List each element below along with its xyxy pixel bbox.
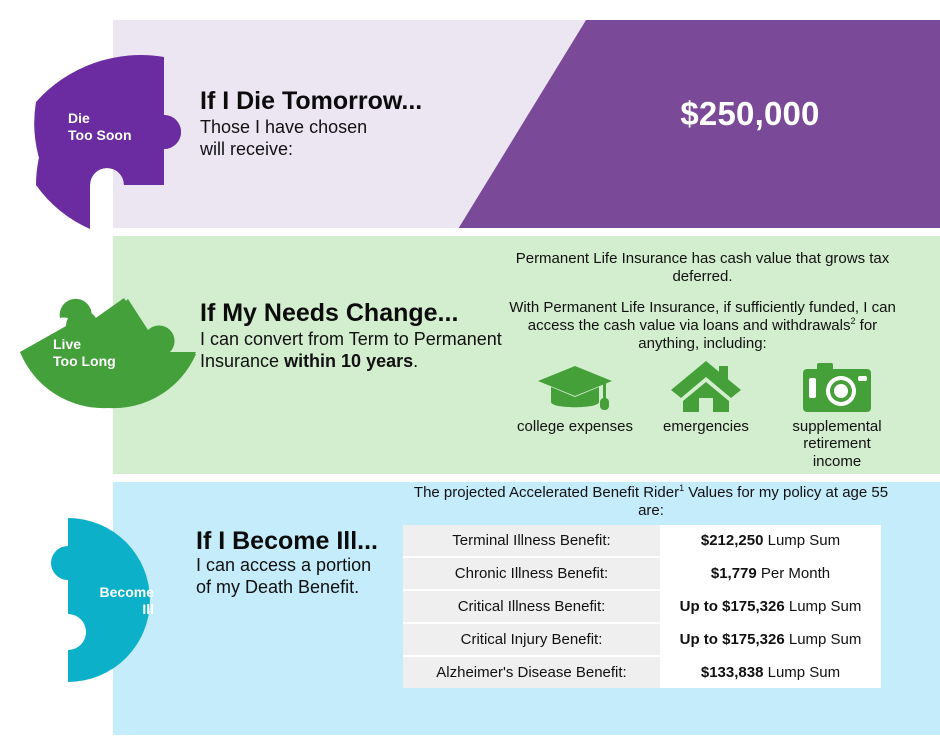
rider-value-prefix: Up to — [680, 598, 723, 615]
rider-value: $212,250 Lump Sum — [660, 525, 881, 558]
puzzle-piece-live-too-long: Live Too Long — [20, 296, 196, 408]
rider-intro-text: The projected Accelerated Benefit Rider1… — [410, 484, 892, 520]
rider-value: Up to $175,326 Lump Sum — [660, 624, 881, 657]
puzzle-piece-become-ill: Become Ill — [46, 518, 176, 682]
table-row: Alzheimer's Disease Benefit: $133,838 Lu… — [403, 657, 881, 688]
ill-heading: If I Become Ill... — [196, 528, 411, 554]
accelerated-benefit-rider-table: Terminal Illness Benefit: $212,250 Lump … — [403, 525, 881, 688]
benefit-icon-college: college expenses — [516, 360, 634, 435]
rider-intro-a: The projected Accelerated Benefit Rider — [414, 484, 679, 501]
puzzle-piece-live-label: Live Too Long — [53, 336, 116, 369]
live-sub: I can convert from Term to Permanent Ins… — [200, 329, 505, 373]
rider-value-suffix: Lump Sum — [785, 631, 862, 648]
puzzle-piece-ill-label-line1: Become — [92, 584, 154, 601]
rider-value-amount: $175,326 — [722, 631, 785, 648]
benefit-icon-emergencies-caption: emergencies — [647, 418, 765, 435]
rider-value: $1,779 Per Month — [660, 558, 881, 591]
benefit-icon-row: college expenses emergencies — [516, 360, 896, 470]
rider-table-body: Terminal Illness Benefit: $212,250 Lump … — [403, 525, 881, 688]
die-sub-line2: will receive: — [200, 139, 500, 161]
ill-sub-line2: of my Death Benefit. — [196, 577, 411, 599]
access-cash-text-a: With Permanent Life Insurance, if suffic… — [509, 299, 896, 334]
rider-value-suffix: Lump Sum — [763, 664, 840, 681]
payout-amount: $250,000 — [560, 95, 940, 133]
rider-value-suffix: Lump Sum — [785, 598, 862, 615]
rider-value-amount: $1,779 — [711, 565, 757, 582]
house-icon — [647, 360, 765, 412]
rider-label: Terminal Illness Benefit: — [403, 525, 660, 558]
rider-value: Up to $175,326 Lump Sum — [660, 591, 881, 624]
puzzle-piece-die-too-soon: Die Too Soon — [36, 57, 196, 229]
live-heading: If My Needs Change... — [200, 300, 505, 326]
ill-sub-line1: I can access a portion — [196, 555, 411, 577]
become-ill-text: If I Become Ill... I can access a portio… — [196, 528, 411, 599]
die-heading: If I Die Tomorrow... — [200, 88, 500, 114]
rider-label: Critical Injury Benefit: — [403, 624, 660, 657]
table-row: Critical Injury Benefit: Up to $175,326 … — [403, 624, 881, 657]
rider-value: $133,838 Lump Sum — [660, 657, 881, 688]
rider-label: Critical Illness Benefit: — [403, 591, 660, 624]
live-sub-plain-2: . — [413, 351, 418, 371]
benefit-icon-college-caption: college expenses — [516, 418, 634, 435]
table-row: Critical Illness Benefit: Up to $175,326… — [403, 591, 881, 624]
puzzle-piece-live-label-line2: Too Long — [53, 353, 116, 370]
table-row: Chronic Illness Benefit: $1,779 Per Mont… — [403, 558, 881, 591]
rider-label: Chronic Illness Benefit: — [403, 558, 660, 591]
access-cash-paragraph: With Permanent Life Insurance, if suffic… — [505, 299, 900, 352]
rider-value-amount: $212,250 — [701, 532, 764, 549]
live-too-long-copy: Permanent Life Insurance has cash value … — [505, 250, 900, 352]
puzzle-piece-die-label-line1: Die — [68, 110, 132, 127]
benefit-icon-emergencies: emergencies — [647, 360, 765, 435]
cash-value-paragraph: Permanent Life Insurance has cash value … — [505, 250, 900, 285]
rider-value-suffix: Per Month — [757, 565, 830, 582]
table-row: Terminal Illness Benefit: $212,250 Lump … — [403, 525, 881, 558]
graduation-cap-icon — [516, 360, 634, 412]
puzzle-piece-die-label: Die Too Soon — [68, 110, 132, 143]
die-sub-line1: Those I have chosen — [200, 117, 500, 139]
puzzle-piece-ill-label-line2: Ill — [92, 601, 154, 618]
camera-icon — [778, 360, 896, 412]
benefit-icon-retirement: supplemental retirement income — [778, 360, 896, 470]
puzzle-piece-ill-label: Become Ill — [92, 584, 154, 617]
puzzle-piece-die-label-line2: Too Soon — [68, 127, 132, 144]
rider-label: Alzheimer's Disease Benefit: — [403, 657, 660, 688]
die-sub: Those I have chosen will receive: — [200, 117, 500, 161]
rider-value-amount: $175,326 — [722, 598, 785, 615]
live-too-long-text: If My Needs Change... I can convert from… — [200, 300, 505, 373]
rider-value-amount: $133,838 — [701, 664, 764, 681]
live-sub-bold: within 10 years — [284, 351, 413, 371]
infographic-root: $250,000 Die Too Soon If I Die Tomorrow.… — [0, 0, 940, 745]
rider-value-suffix: Lump Sum — [763, 532, 840, 549]
benefit-icon-retirement-caption: supplemental retirement income — [778, 418, 896, 470]
die-too-soon-text: If I Die Tomorrow... Those I have chosen… — [200, 88, 500, 161]
ill-sub: I can access a portion of my Death Benef… — [196, 555, 411, 599]
puzzle-piece-live-label-line1: Live — [53, 336, 116, 353]
rider-value-prefix: Up to — [680, 631, 723, 648]
